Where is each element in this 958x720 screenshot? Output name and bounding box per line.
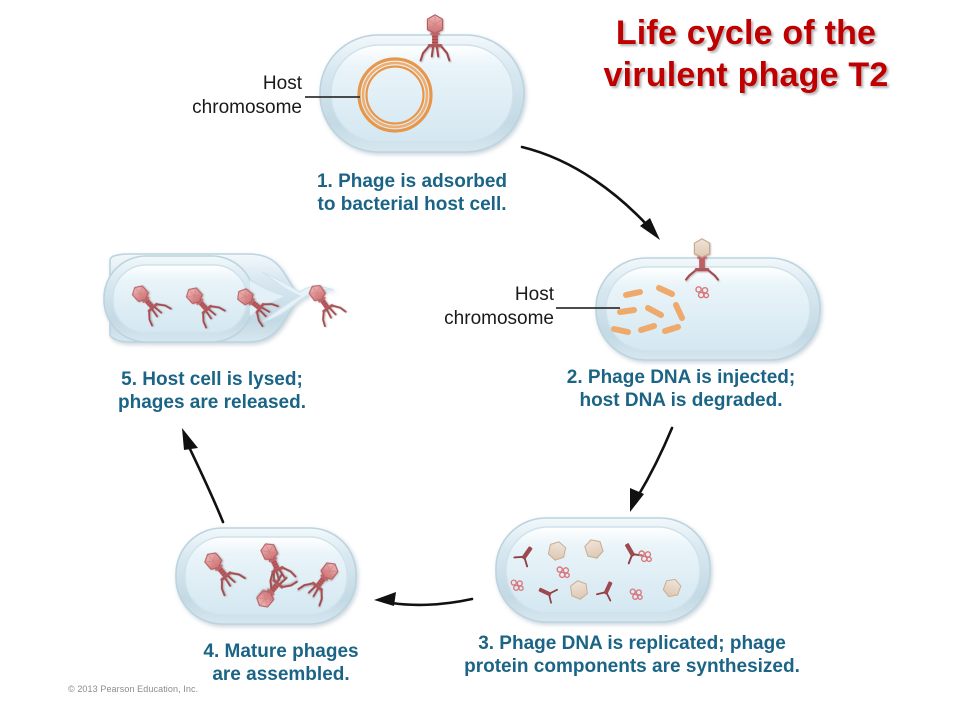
cell-step-4 bbox=[176, 528, 356, 624]
arrow-4-to-5 bbox=[182, 428, 223, 522]
cell-step-1 bbox=[320, 35, 524, 152]
artwork-layer bbox=[0, 0, 958, 720]
host-chromosome-label-1: Host chromosome bbox=[150, 72, 302, 120]
host-chromosome-circle bbox=[359, 59, 431, 131]
cell-step-5 bbox=[104, 254, 334, 342]
phage-adsorbed bbox=[421, 15, 450, 61]
degraded-dna-fragments bbox=[614, 288, 682, 332]
phage-empty-capsid bbox=[686, 239, 718, 280]
injected-phage-dna bbox=[696, 287, 708, 298]
step-caption-2: 2. Phage DNA is injected; host DNA is de… bbox=[516, 366, 846, 412]
step-caption-5: 5. Host cell is lysed; phages are releas… bbox=[62, 368, 362, 414]
phage-components-step-3 bbox=[511, 537, 682, 602]
diagram-canvas: Life cycle of the virulent phage T2 Host… bbox=[0, 0, 958, 720]
copyright-notice: © 2013 Pearson Education, Inc. bbox=[68, 684, 198, 694]
page-title: Life cycle of the virulent phage T2 bbox=[540, 12, 952, 96]
arrow-2-to-3 bbox=[630, 428, 672, 512]
mature-phages-step-4 bbox=[197, 538, 345, 614]
arrow-3-to-4 bbox=[374, 592, 472, 606]
step-caption-4: 4. Mature phages are assembled. bbox=[152, 640, 410, 686]
step-caption-3: 3. Phage DNA is replicated; phage protei… bbox=[412, 632, 852, 678]
title-line-2: virulent phage T2 bbox=[540, 54, 952, 96]
released-phages-step-5 bbox=[125, 279, 345, 328]
cell-step-3 bbox=[496, 518, 710, 622]
host-chromosome-label-2: Host chromosome bbox=[402, 283, 554, 331]
step-caption-1: 1. Phage is adsorbed to bacterial host c… bbox=[262, 170, 562, 216]
cell-step-2 bbox=[596, 258, 820, 360]
title-line-1: Life cycle of the bbox=[540, 12, 952, 54]
